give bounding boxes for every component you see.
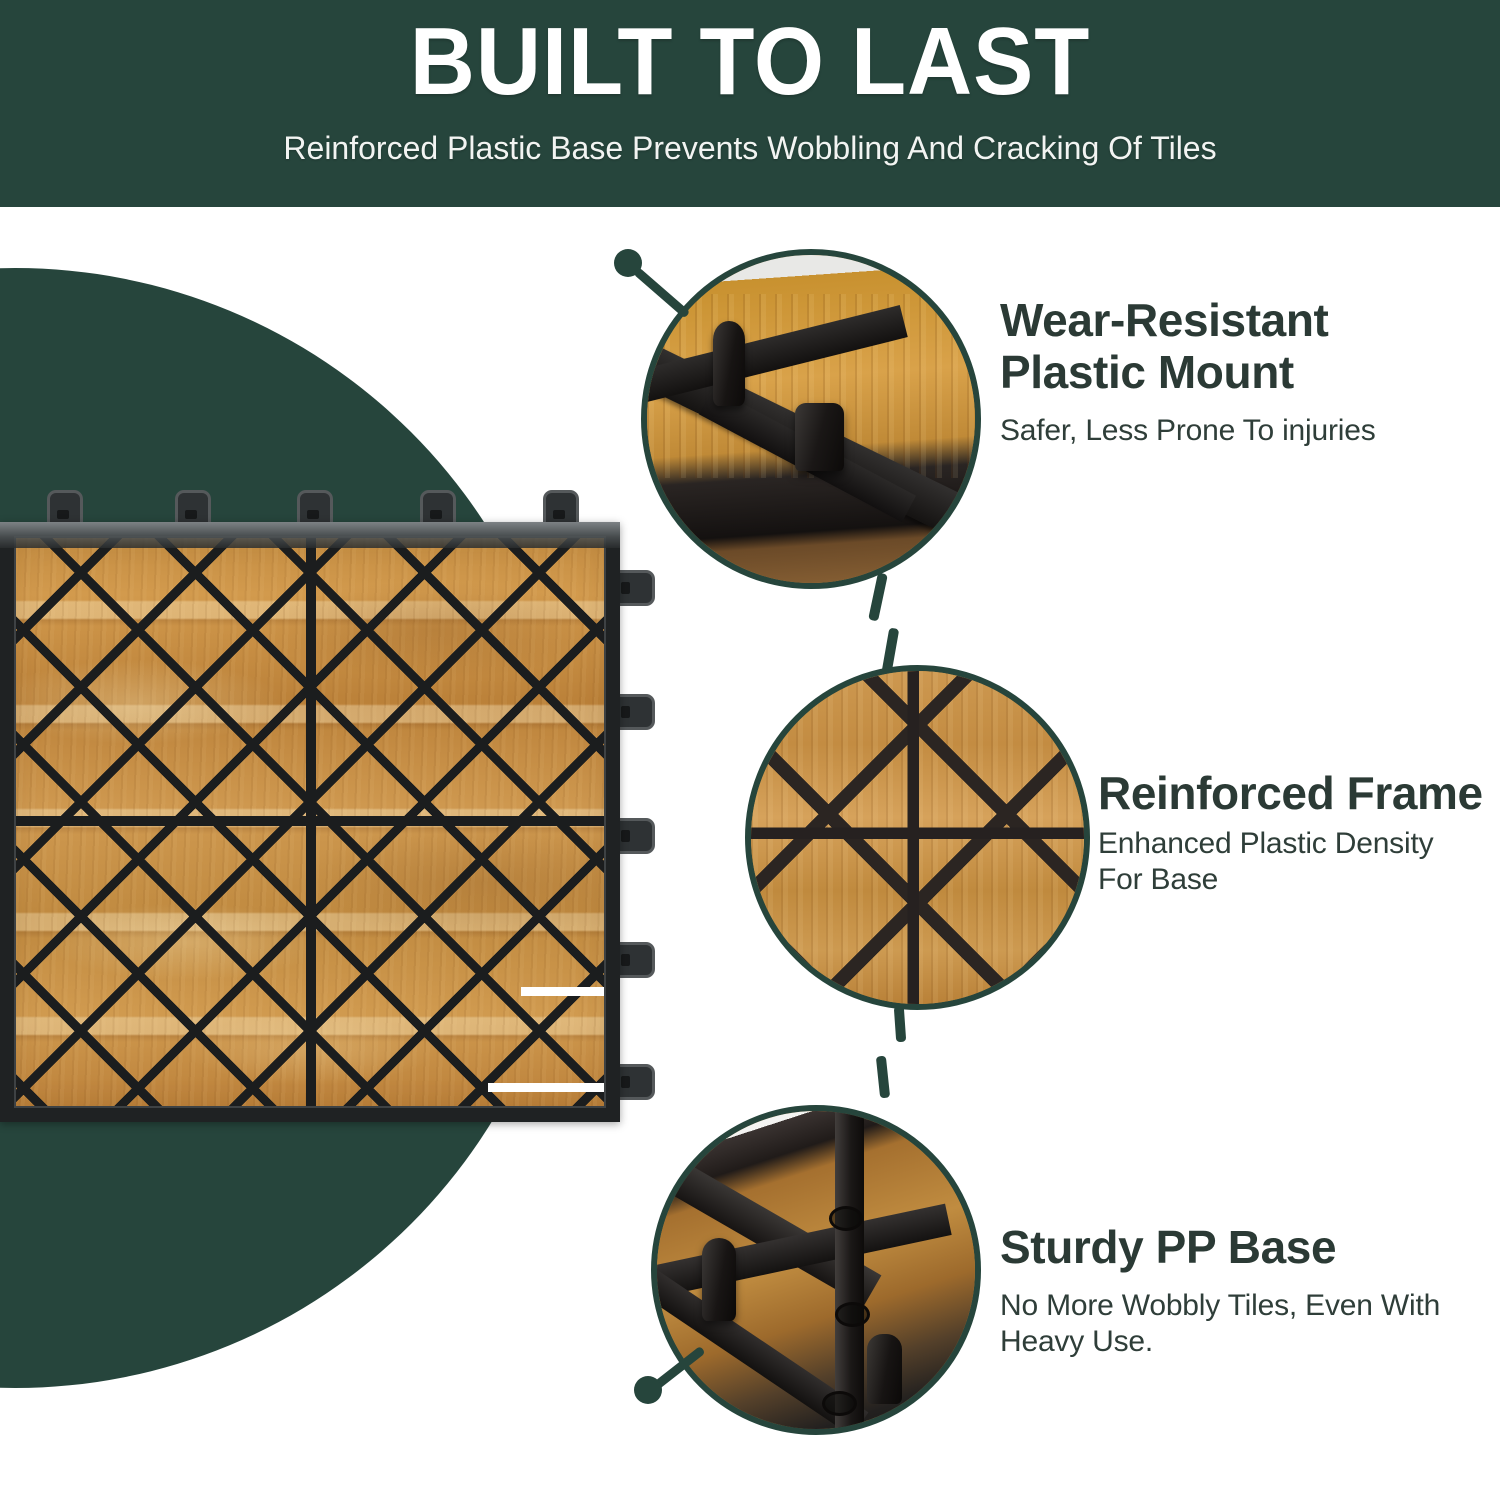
product-image-deck-tile: [0, 490, 652, 1155]
connector-tab-top-4: [420, 490, 456, 530]
page-subtitle: Reinforced Plastic Base Prevents Wobblin…: [283, 132, 1216, 164]
feature-1-title-line-1: Wear-Resistant: [1000, 295, 1420, 347]
infographic-canvas: BUILT TO LAST Reinforced Plastic Base Pr…: [0, 0, 1500, 1500]
feature-1-title-line-2: Plastic Mount: [1000, 347, 1420, 399]
connector-tab-right-2: [615, 694, 655, 730]
feature-3-title-line-1: Sturdy PP Base: [1000, 1222, 1460, 1274]
callout-1-pointer-dot: [614, 249, 642, 277]
feature-3-subtitle-line-1: No More Wobbly Tiles, Even With: [1000, 1288, 1460, 1324]
header-banner: BUILT TO LAST Reinforced Plastic Base Pr…: [0, 0, 1500, 207]
feature-1-subtitle-line-1: Safer, Less Prone To injuries: [1000, 413, 1420, 449]
callout-3-image: [651, 1105, 981, 1435]
connector-tab-top-2: [175, 490, 211, 530]
callout-3-round-peg: [702, 1238, 737, 1321]
callout-2-structural-ribs: [751, 671, 1084, 1004]
connector-dash-2b: [876, 1056, 890, 1099]
callout-3-corner-peg: [867, 1334, 902, 1404]
connector-tab-right-4: [615, 942, 655, 978]
connector-tab-top-5: [543, 490, 579, 530]
callout-1-round-peg: [713, 321, 746, 406]
feature-2-title-line-1: Reinforced Frame: [1098, 768, 1498, 820]
feature-2-subtitle-line-2: For Base: [1098, 862, 1498, 898]
feature-3-text: Sturdy PP Base No More Wobbly Tiles, Eve…: [1000, 1222, 1460, 1360]
feature-3-subtitle-line-2: Heavy Use.: [1000, 1324, 1460, 1360]
feature-1-text: Wear-Resistant Plastic Mount Safer, Less…: [1000, 295, 1420, 449]
callout-3-drain-hole-3: [822, 1391, 857, 1416]
connector-tab-top-1: [47, 490, 83, 530]
connector-dash-2a: [894, 1006, 906, 1043]
callout-1-image: [641, 249, 981, 589]
callout-2-image: [745, 665, 1090, 1010]
page-title: BUILT TO LAST: [410, 14, 1091, 110]
connector-tab-top-3: [297, 490, 333, 530]
tile-plank-gap-1: [521, 987, 619, 996]
callout-3-drain-hole-2: [835, 1302, 870, 1327]
tile-plank-gap-2: [488, 1083, 619, 1092]
feature-2-text: Reinforced Frame Enhanced Plastic Densit…: [1098, 768, 1498, 898]
callout-1-square-peg: [795, 403, 844, 472]
feature-2-subtitle-line-1: Enhanced Plastic Density: [1098, 826, 1498, 862]
tile-wood-surface: [0, 522, 620, 1122]
connector-tab-right-5: [615, 1064, 655, 1100]
connector-tab-right-3: [615, 818, 655, 854]
callout-3-pointer-dot: [634, 1376, 662, 1404]
plastic-structural-ribs: [0, 522, 620, 1122]
callout-3-vertical-rib: [835, 1105, 864, 1435]
